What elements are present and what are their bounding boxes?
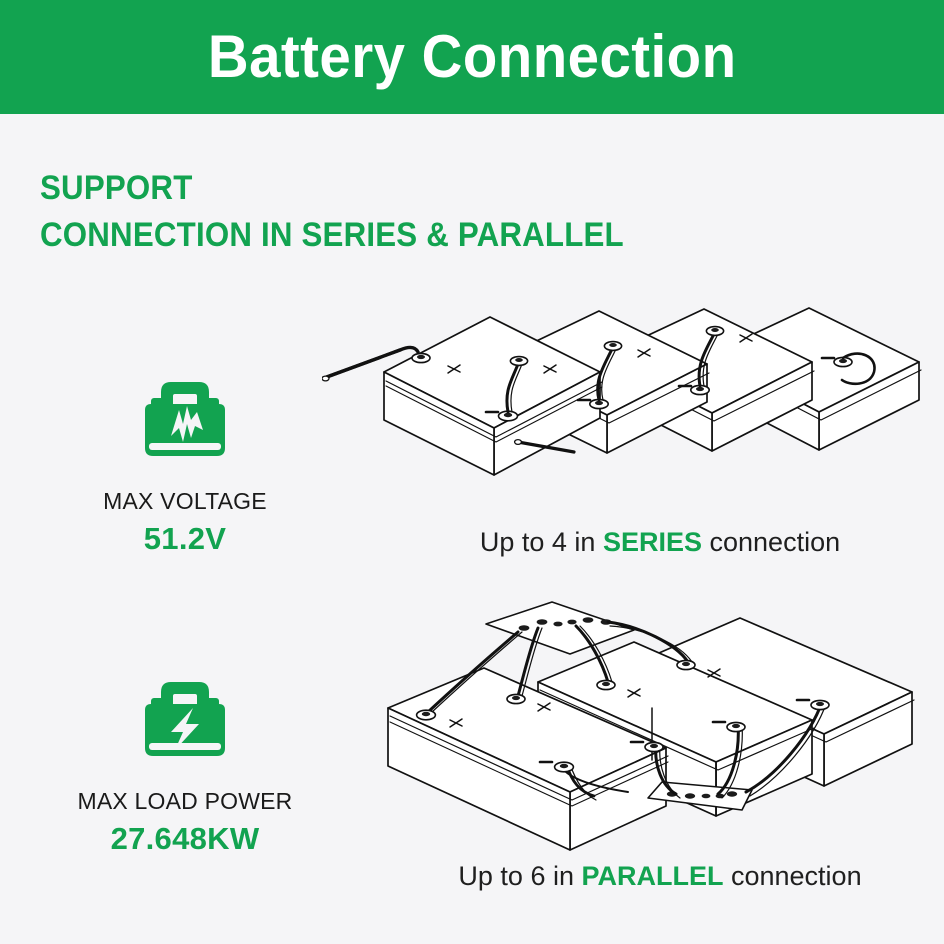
spec-max-voltage-label: MAX VOLTAGE bbox=[20, 488, 350, 516]
support-heading-line-2: CONNECTION IN SERIES & PARALLEL bbox=[40, 215, 684, 256]
parallel-caption: Up to 6 in PARALLEL connection bbox=[400, 860, 920, 892]
series-connection-diagram bbox=[322, 300, 922, 515]
spec-max-voltage-value: 51.2V bbox=[20, 520, 350, 557]
spec-max-load-power-value: 27.648KW bbox=[20, 820, 350, 857]
series-caption-prefix: Up to 4 in bbox=[480, 527, 603, 557]
parallel-connection-diagram bbox=[366, 596, 922, 864]
spec-max-load-power-label: MAX LOAD POWER bbox=[20, 788, 350, 816]
series-caption-emphasis: SERIES bbox=[603, 527, 702, 557]
series-caption: Up to 4 in SERIES connection bbox=[420, 526, 900, 558]
battery-bolt-icon bbox=[125, 658, 245, 778]
page-header: Battery Connection bbox=[0, 0, 944, 114]
spec-max-load-power: MAX LOAD POWER 27.648KW bbox=[20, 658, 350, 857]
parallel-caption-emphasis: PARALLEL bbox=[581, 861, 723, 891]
parallel-caption-suffix: connection bbox=[723, 861, 861, 891]
page-title: Battery Connection bbox=[208, 27, 737, 87]
support-heading-line-1: SUPPORT bbox=[40, 168, 684, 209]
spec-max-voltage: MAX VOLTAGE 51.2V bbox=[20, 358, 350, 557]
parallel-batteries-illustration bbox=[366, 596, 922, 864]
parallel-caption-prefix: Up to 6 in bbox=[458, 861, 581, 891]
series-batteries-illustration bbox=[322, 300, 922, 515]
support-heading-block: SUPPORT CONNECTION IN SERIES & PARALLEL bbox=[40, 168, 740, 257]
series-caption-suffix: connection bbox=[702, 527, 840, 557]
battery-pulse-icon bbox=[125, 358, 245, 478]
